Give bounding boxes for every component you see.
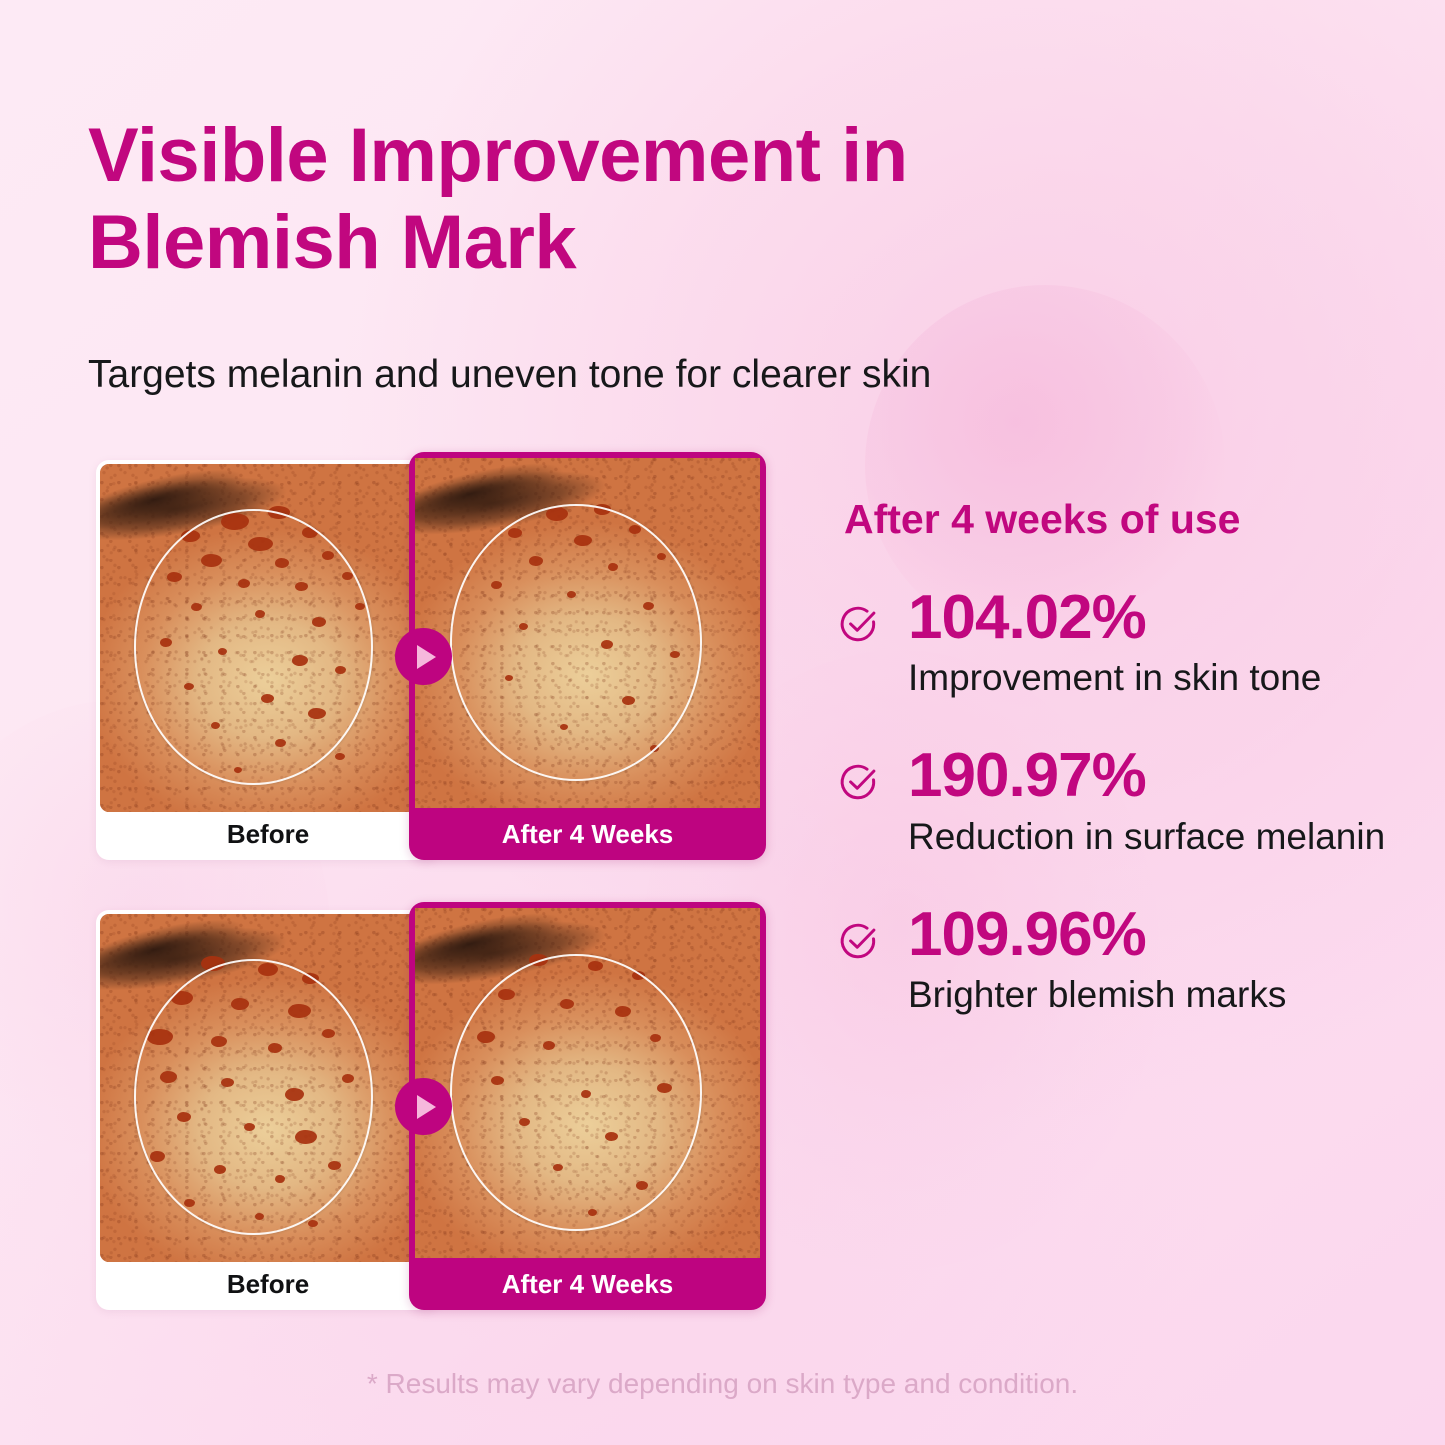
play-icon[interactable] <box>395 628 452 685</box>
comparison-row-1: Before <box>96 452 766 860</box>
circle-check-icon <box>838 604 880 646</box>
comparison-row-2: Before <box>96 902 766 1310</box>
after-photo <box>415 458 760 808</box>
after-card[interactable]: After 4 Weeks <box>409 902 766 1310</box>
stat-value: 190.97% <box>908 744 1398 807</box>
stat-value: 109.96% <box>908 903 1398 966</box>
roi-oval-outline <box>134 959 373 1234</box>
before-photo <box>100 914 436 1262</box>
after-photo <box>415 908 760 1258</box>
stats-panel: After 4 weeks of use 104.02% Improvement… <box>838 497 1398 1017</box>
page-title-line-2: Blemish Mark <box>88 199 1148 286</box>
stat-description: Improvement in skin tone <box>908 655 1398 700</box>
roi-oval-outline <box>450 504 702 781</box>
page-title: Visible Improvement in Blemish Mark <box>88 112 1148 287</box>
roi-oval-outline <box>450 954 702 1231</box>
stats-title: After 4 weeks of use <box>844 497 1398 542</box>
play-icon[interactable] <box>395 1078 452 1135</box>
infographic-canvas: Visible Improvement in Blemish Mark Targ… <box>0 0 1445 1445</box>
stat-description: Reduction in surface melanin <box>908 814 1398 859</box>
after-label: After 4 Weeks <box>409 808 766 860</box>
stat-description: Brighter blemish marks <box>908 972 1398 1017</box>
before-photo <box>100 464 436 812</box>
before-card[interactable]: Before <box>96 910 440 1310</box>
before-label: Before <box>96 808 440 860</box>
stat-item: 109.96% Brighter blemish marks <box>838 903 1398 1017</box>
stat-item: 104.02% Improvement in skin tone <box>838 586 1398 700</box>
before-label: Before <box>96 1258 440 1310</box>
after-label: After 4 Weeks <box>409 1258 766 1310</box>
stat-value: 104.02% <box>908 586 1398 649</box>
circle-check-icon <box>838 762 880 804</box>
disclaimer-footnote: * Results may vary depending on skin typ… <box>0 1368 1445 1400</box>
page-title-line-1: Visible Improvement in <box>88 112 1148 199</box>
circle-check-icon <box>838 921 880 963</box>
roi-oval-outline <box>134 509 373 784</box>
before-card[interactable]: Before <box>96 460 440 860</box>
after-card[interactable]: After 4 Weeks <box>409 452 766 860</box>
page-subtitle: Targets melanin and uneven tone for clea… <box>88 351 1188 400</box>
stat-item: 190.97% Reduction in surface melanin <box>838 744 1398 858</box>
